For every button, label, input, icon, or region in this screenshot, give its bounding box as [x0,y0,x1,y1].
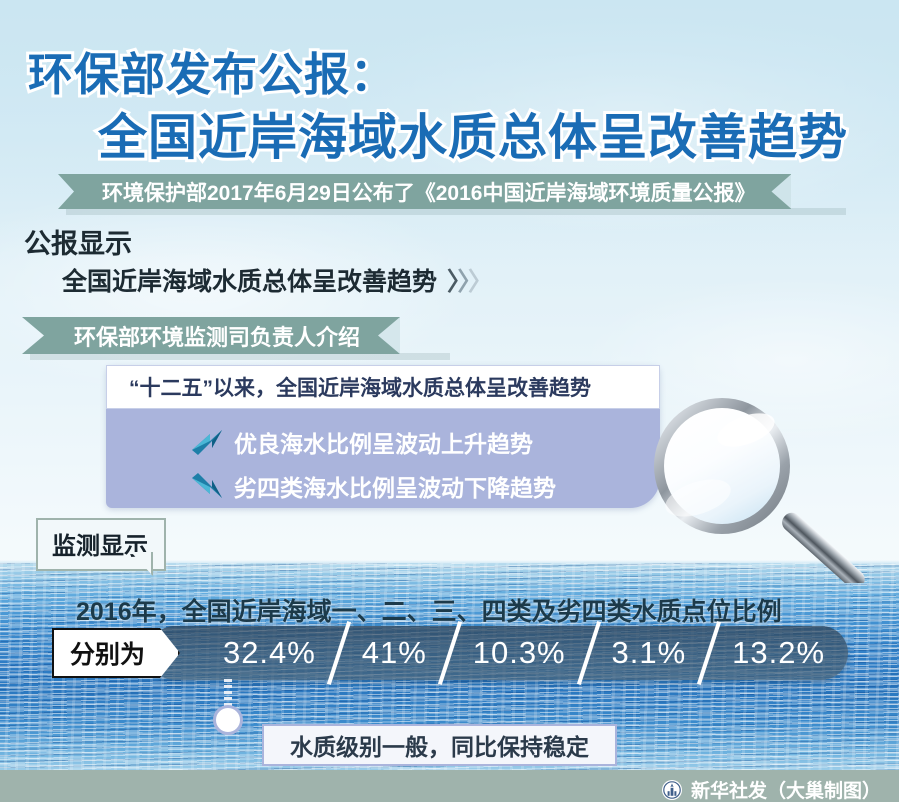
credit-text: 新华社发（大巢制图） [691,776,881,802]
data-value-cell: 41% [339,626,450,680]
headline-line-2: 全国近岸海域水质总体呈改善趋势 [98,98,848,169]
official-banner-shadow [30,353,450,360]
report-statement: 全国近岸海域水质总体呈改善趋势 [62,268,437,296]
chevron-right-icon: 〉〉〉 [447,262,491,298]
xinhua-logo-icon [661,779,683,801]
source-banner: 环境保护部2017年6月29日公布了《2016中国近岸海域环境质量公报》 [58,174,791,209]
source-banner-shadow [66,208,846,215]
official-banner: 环保部环境监测司负责人介绍 [22,317,400,354]
bubble-bullet-1: 优良海水比例呈波动上升趋势 [190,425,533,459]
credit-block: 新华社发（大巢制图） [661,776,881,802]
arrow-up-right-icon [190,428,224,456]
water-quality-data-bar: 32.4% 41% 10.3% 3.1% 13.2% [148,626,848,680]
arrow-down-right-icon [190,472,224,500]
magnifier-icon [640,398,890,583]
headline-line-1: 环保部发布公报： [28,38,396,103]
official-banner-label: 环保部环境监测司负责人介绍 [74,320,360,352]
bubble-bullet-2: 劣四类海水比例呈波动下降趋势 [190,469,556,503]
infographic-canvas: 环保部发布公报： 全国近岸海域水质总体呈改善趋势 环境保护部2017年6月29日… [0,0,899,802]
data-value-cell: 3.1% [589,626,710,680]
bubble-bullet-2-label: 劣四类海水比例呈波动下降趋势 [234,469,556,503]
source-banner-label: 环境保护部2017年6月29日公布了《2016中国近岸海域环境质量公报》 [102,177,755,207]
statement-bubble: “十二五”以来，全国近岸海域水质总体呈改善趋势 优良海水比例呈波动上升趋势 劣四… [106,365,660,508]
data-value-cell: 13.2% [709,626,848,680]
callout-connector-knob [213,705,243,735]
report-statement-row: 全国近岸海域水质总体呈改善趋势〉〉〉 [62,262,491,298]
report-label: 公报显示 [24,222,132,261]
data-value-cell: 10.3% [450,626,589,680]
data-caption: 2016年，全国近岸海域一、二、三、四类及劣四类水质点位比例 [76,592,782,628]
data-bar-tag: 分别为 [52,628,180,678]
bubble-bullet-1-label: 优良海水比例呈波动上升趋势 [234,425,533,459]
bubble-headline: “十二五”以来，全国近岸海域水质总体呈改善趋势 [106,365,660,409]
bottom-callout: 水质级别一般，同比保持稳定 [262,724,617,766]
